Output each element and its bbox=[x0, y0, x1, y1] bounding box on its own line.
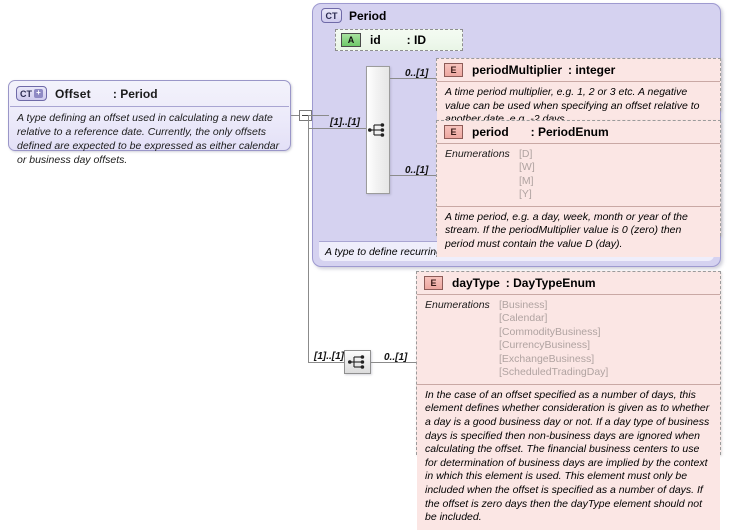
complex-type-plus-icon[interactable]: CT+ bbox=[16, 86, 47, 101]
diagram-canvas: CT Period A type to define recurring per… bbox=[0, 0, 741, 462]
element-icon: E bbox=[444, 63, 463, 77]
daytype-type: : DayTypeEnum bbox=[506, 276, 596, 290]
periodmultiplier-name: periodMultiplier bbox=[472, 63, 562, 77]
expand-plus-icon[interactable]: + bbox=[34, 89, 43, 98]
complex-type-icon: CT bbox=[321, 8, 342, 23]
id-attribute-name: id bbox=[370, 33, 381, 47]
connector-to-top-compositor bbox=[308, 128, 366, 129]
periodmultiplier-header: E periodMultiplier : integer bbox=[437, 59, 720, 82]
cardinality-daytype: 0..[1] bbox=[384, 352, 407, 363]
sequence-compositor-icon bbox=[368, 122, 388, 138]
element-icon: E bbox=[444, 125, 463, 139]
period-container-header: CT Period bbox=[313, 4, 720, 23]
id-attribute-type: : ID bbox=[407, 33, 426, 47]
enum-value: [Y] bbox=[519, 188, 532, 200]
period-header: E period : PeriodEnum bbox=[437, 121, 720, 144]
enum-value: [ScheduledTradingDay] bbox=[499, 366, 608, 378]
daytype-documentation: In the case of an offset specified as a … bbox=[417, 385, 720, 530]
enum-value: [ExchangeBusiness] bbox=[499, 353, 594, 365]
period-type: : PeriodEnum bbox=[531, 125, 609, 139]
enum-value: [W] bbox=[519, 161, 535, 173]
period-enumerations-label: Enumerations bbox=[445, 148, 519, 202]
id-attribute-box[interactable]: A id : ID bbox=[335, 29, 463, 51]
cardinality-period: 0..[1] bbox=[405, 165, 428, 176]
cardinality-bottom-compositor: [1]..[1] bbox=[314, 351, 344, 362]
cardinality-periodmultiplier: 0..[1] bbox=[405, 68, 428, 79]
connector-trunk-vertical bbox=[308, 115, 309, 362]
daytype-enumerations: Enumerations [Business] [Calendar] [Comm… bbox=[417, 295, 720, 385]
period-enumerations: Enumerations [D] [W] [M] [Y] bbox=[437, 144, 720, 207]
ct-icon-label: CT bbox=[20, 89, 32, 99]
offset-header: CT+ Offset : Period bbox=[9, 81, 290, 106]
element-box-daytype[interactable]: E dayType : DayTypeEnum Enumerations [Bu… bbox=[416, 271, 721, 455]
enum-value: [Business] bbox=[499, 299, 547, 311]
offset-name: Offset bbox=[55, 87, 91, 101]
attribute-icon: A bbox=[341, 33, 361, 47]
connector-trunk-top bbox=[312, 115, 329, 116]
element-icon: E bbox=[424, 276, 443, 290]
period-container-title: Period bbox=[349, 9, 386, 23]
periodmultiplier-type: : integer bbox=[568, 63, 615, 77]
daytype-name: dayType bbox=[452, 276, 500, 290]
offset-type-box[interactable]: CT+ Offset : Period A type defining an o… bbox=[8, 80, 291, 151]
period-documentation: A time period, e.g. a day, week, month o… bbox=[437, 207, 720, 257]
connector-branch-top bbox=[308, 115, 309, 128]
enum-value: [CurrencyBusiness] bbox=[499, 339, 590, 351]
connector-offset-out bbox=[291, 115, 299, 116]
sequence-compositor-bottom[interactable] bbox=[344, 350, 371, 374]
enum-value: [Calendar] bbox=[499, 312, 547, 324]
sequence-compositor-icon bbox=[348, 354, 368, 370]
element-box-periodmultiplier[interactable]: E periodMultiplier : integer A time peri… bbox=[436, 58, 721, 111]
period-name: period bbox=[472, 125, 509, 139]
offset-type: : Period bbox=[113, 87, 158, 101]
enum-value: [CommodityBusiness] bbox=[499, 326, 601, 338]
enum-value: [D] bbox=[519, 148, 532, 160]
daytype-header: E dayType : DayTypeEnum bbox=[417, 272, 720, 295]
daytype-enumerations-values: [Business] [Calendar] [CommodityBusiness… bbox=[499, 299, 608, 380]
offset-documentation: A type defining an offset used in calcul… bbox=[9, 107, 290, 173]
element-box-period[interactable]: E period : PeriodEnum Enumerations [D] [… bbox=[436, 120, 721, 236]
enum-value: [M] bbox=[519, 175, 534, 187]
connector-to-bottom-compositor bbox=[308, 362, 344, 363]
daytype-enumerations-label: Enumerations bbox=[425, 299, 499, 380]
period-enumerations-values: [D] [W] [M] [Y] bbox=[519, 148, 535, 202]
sequence-compositor-top[interactable] bbox=[366, 66, 390, 194]
cardinality-top-compositor: [1]..[1] bbox=[330, 117, 360, 128]
